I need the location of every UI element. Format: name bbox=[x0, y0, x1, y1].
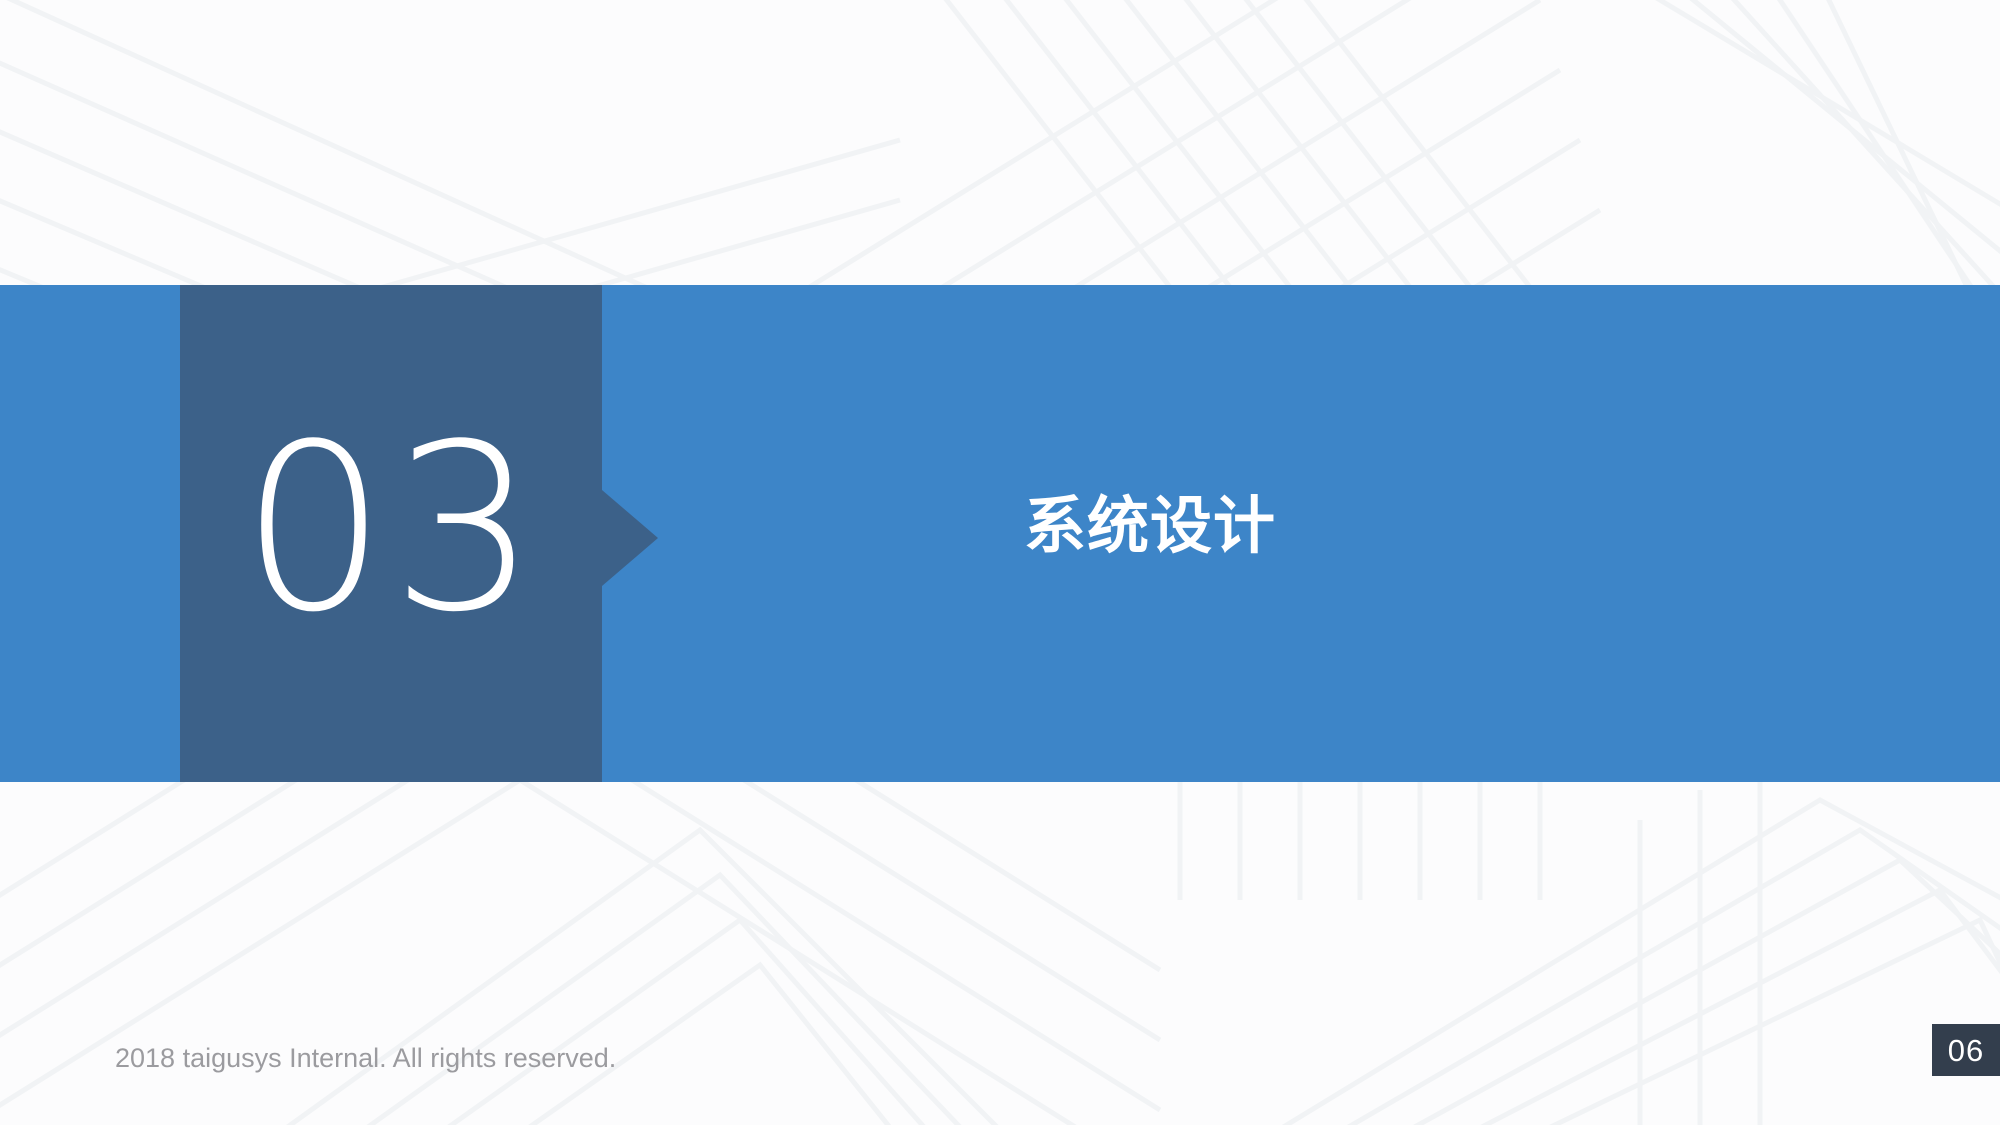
slide-canvas: 03 系统设计 2018 taigusys Internal. All righ… bbox=[0, 0, 2000, 1125]
page-number-badge: 06 bbox=[1932, 1024, 2000, 1076]
section-number: 03 bbox=[241, 415, 542, 645]
panel-arrow-icon bbox=[602, 490, 658, 586]
section-title: 系统设计 bbox=[1024, 492, 1276, 560]
page-number: 06 bbox=[1948, 1035, 1984, 1066]
section-number-panel: 03 bbox=[180, 285, 602, 782]
footer-copyright: 2018 taigusys Internal. All rights reser… bbox=[115, 1042, 616, 1074]
